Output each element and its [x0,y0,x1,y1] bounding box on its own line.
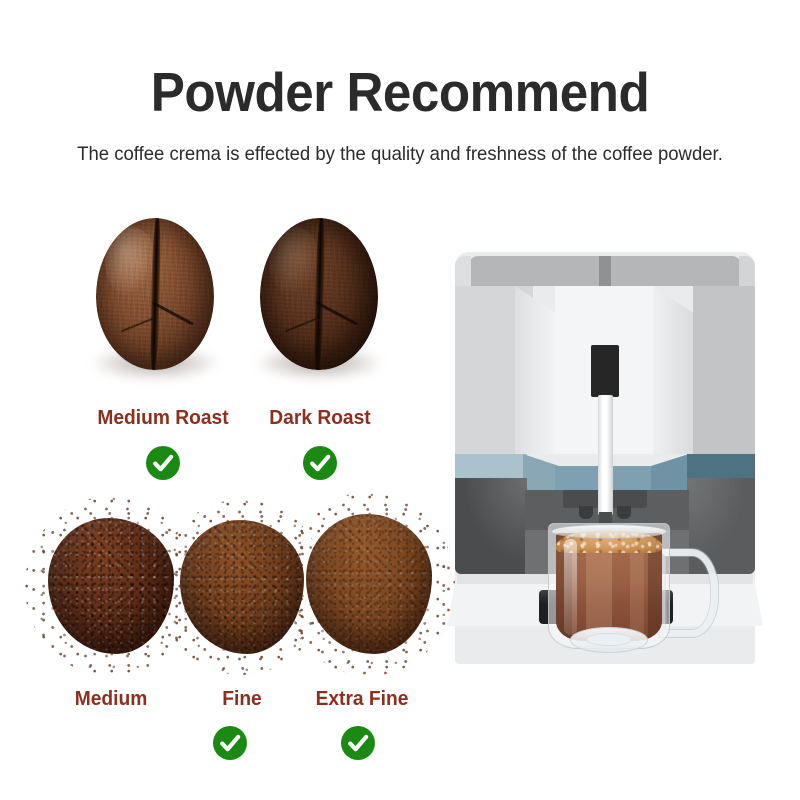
grind-mound [306,514,432,654]
roast-label-dark: Dark Roast [248,407,392,430]
machine-face-right [693,286,755,454]
page-title: Powder Recommend [28,62,772,122]
check-circle-icon-dark-roast [303,446,337,480]
bean-medium-roast [96,218,214,380]
machine-column-left-shade [455,478,527,574]
machine-band-right [687,454,755,478]
page-subtitle: The coffee crema is effected by the qual… [20,141,780,167]
bean-shape [260,218,378,370]
cup-gloss-highlight [564,539,577,635]
machine-display-panel [591,345,619,397]
machine-top-lip-left [455,256,471,286]
machine-top-nub [599,256,611,286]
bean-vignette [260,218,378,370]
grind-label-extra-fine: Extra Fine [295,688,429,711]
coffee-cup-illustration [534,523,690,659]
machine-bevel-right [653,286,695,454]
grind-label-fine: Fine [181,688,304,711]
machine-band-left [455,454,527,478]
cup-base-inner [586,633,632,646]
steam-wand [598,395,613,515]
cup-rim [552,525,666,538]
grind-mound [48,518,174,654]
roast-label-medium: Medium Roast [86,407,240,430]
machine-bevel-left [515,286,557,454]
machine-nozzle-left [579,506,593,519]
machine-nozzle-right [617,506,631,519]
machine-top-lip-right [739,256,755,286]
bean-vignette [96,218,214,370]
poster-canvas: Powder Recommend The coffee crema is eff… [0,0,800,800]
grind-pile-medium [48,518,174,654]
check-circle-icon-extra-fine [341,726,375,760]
check-circle-icon-fine [213,726,247,760]
bean-shape [96,218,214,370]
grind-label-medium: Medium [39,688,183,711]
bean-dark-roast [260,218,378,380]
grind-pile-extra-fine [306,514,432,654]
check-circle-icon-medium-roast [146,446,180,480]
